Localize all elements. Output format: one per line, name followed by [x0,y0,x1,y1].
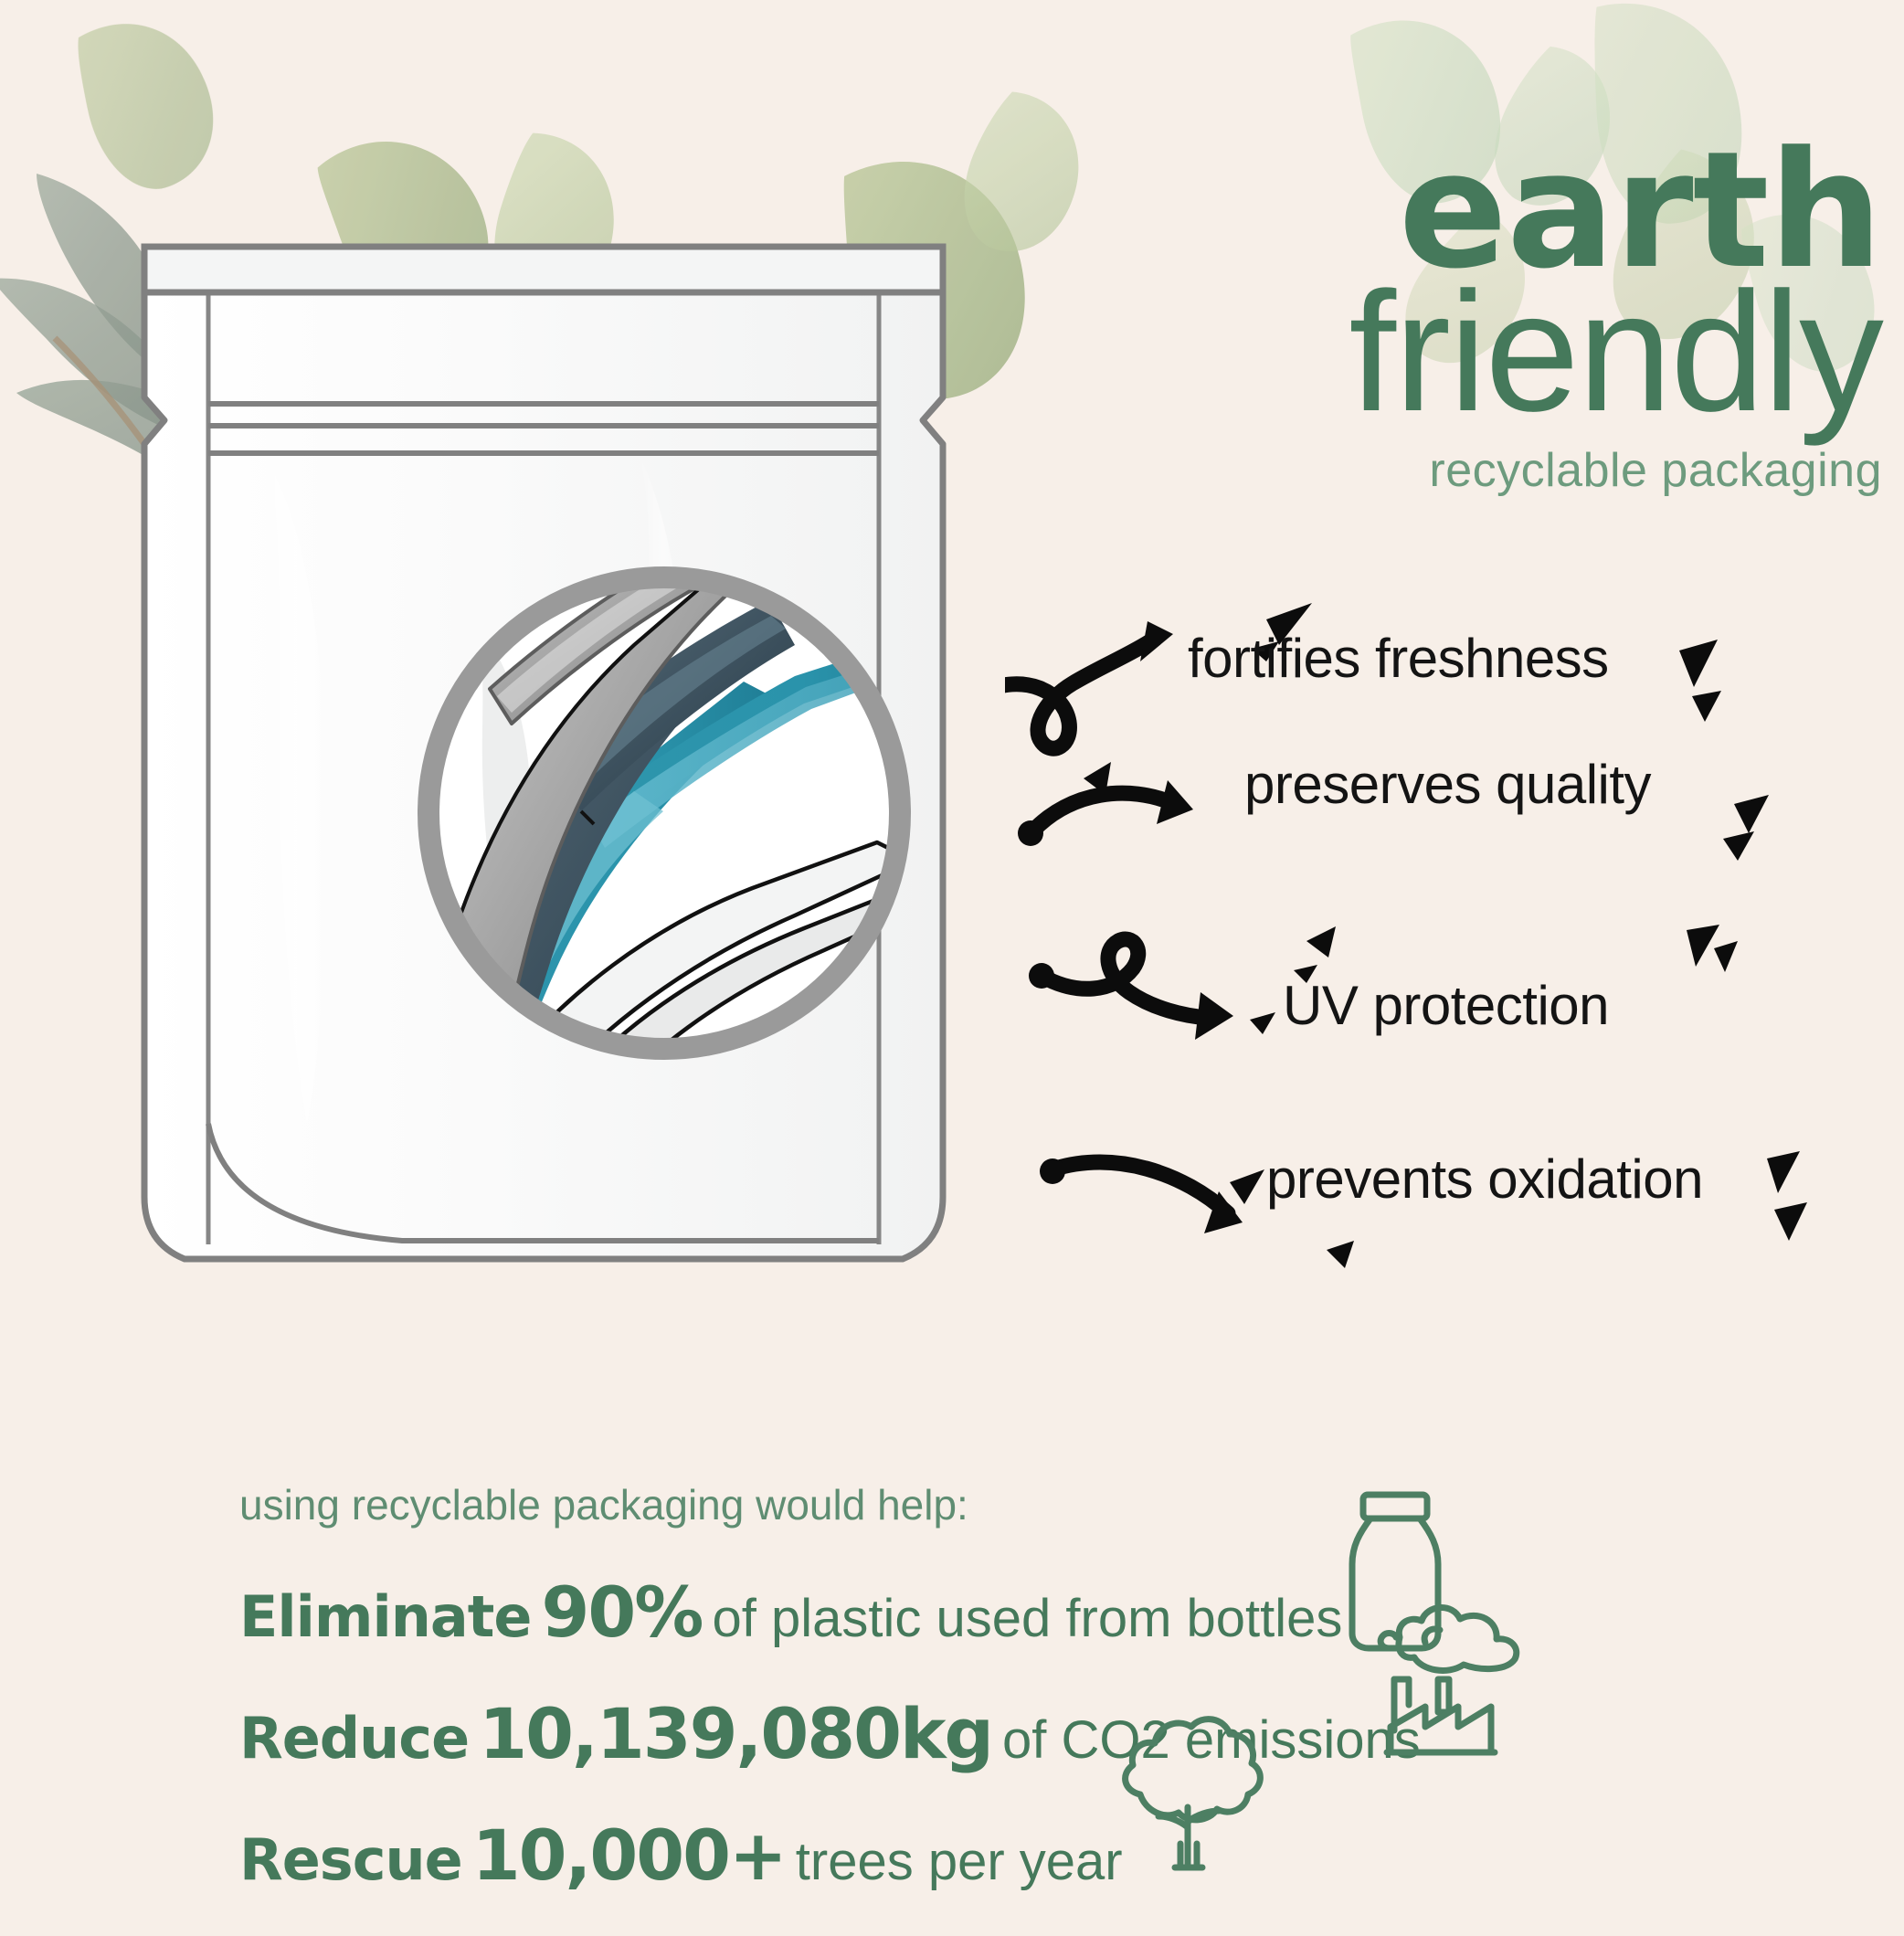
sparkle-cluster-quality [1718,795,1827,905]
leader-origin-dot [1005,682,1065,1184]
feature-label-prevents-oxidation: prevents oxidation [1266,1148,1703,1211]
feature-label-uv-protection: UV protection [1283,974,1609,1037]
stat-rest: of plastic used from bottles [713,1589,1343,1648]
stat-verb: Reduce [239,1705,469,1772]
page-title-line2: friendly [1124,272,1882,434]
stat-rest: trees per year [796,1832,1123,1891]
sparkle-cluster-uv [1668,925,1769,1025]
stat-verb: Rescue [239,1826,462,1893]
magnifier-circle [402,521,950,1106]
stat-number: 10,139,080kg [479,1693,992,1774]
feature-label-preserves-quality: preserves quality [1244,753,1651,816]
stat-number: 90% [541,1571,702,1653]
stat-number: 10,000+ [472,1814,786,1896]
sparkle-icon [1723,795,1769,861]
stat-row: Rescue 10,000+ trees per year [239,1814,1610,1896]
sparkle-icon [1687,925,1738,972]
sparkle-cluster-freshness [1665,640,1774,758]
sparkle-cluster-oxidation [1754,1149,1864,1277]
page-subtitle: recyclable packaging [1124,443,1882,498]
headline-block: earth friendly recyclable packaging [1124,137,1882,498]
feature-label-fortifies-freshness: fortifies freshness [1188,627,1609,690]
infographic-canvas: earth friendly recyclable packaging fort… [0,0,1904,1905]
factory-icon [1369,1592,1551,1765]
stat-verb: Eliminate [239,1583,531,1650]
sparkle-icon [1767,1151,1807,1241]
sparkle-icon [1679,640,1721,722]
tree-icon [1107,1707,1272,1880]
arrowhead [1140,621,1243,1233]
